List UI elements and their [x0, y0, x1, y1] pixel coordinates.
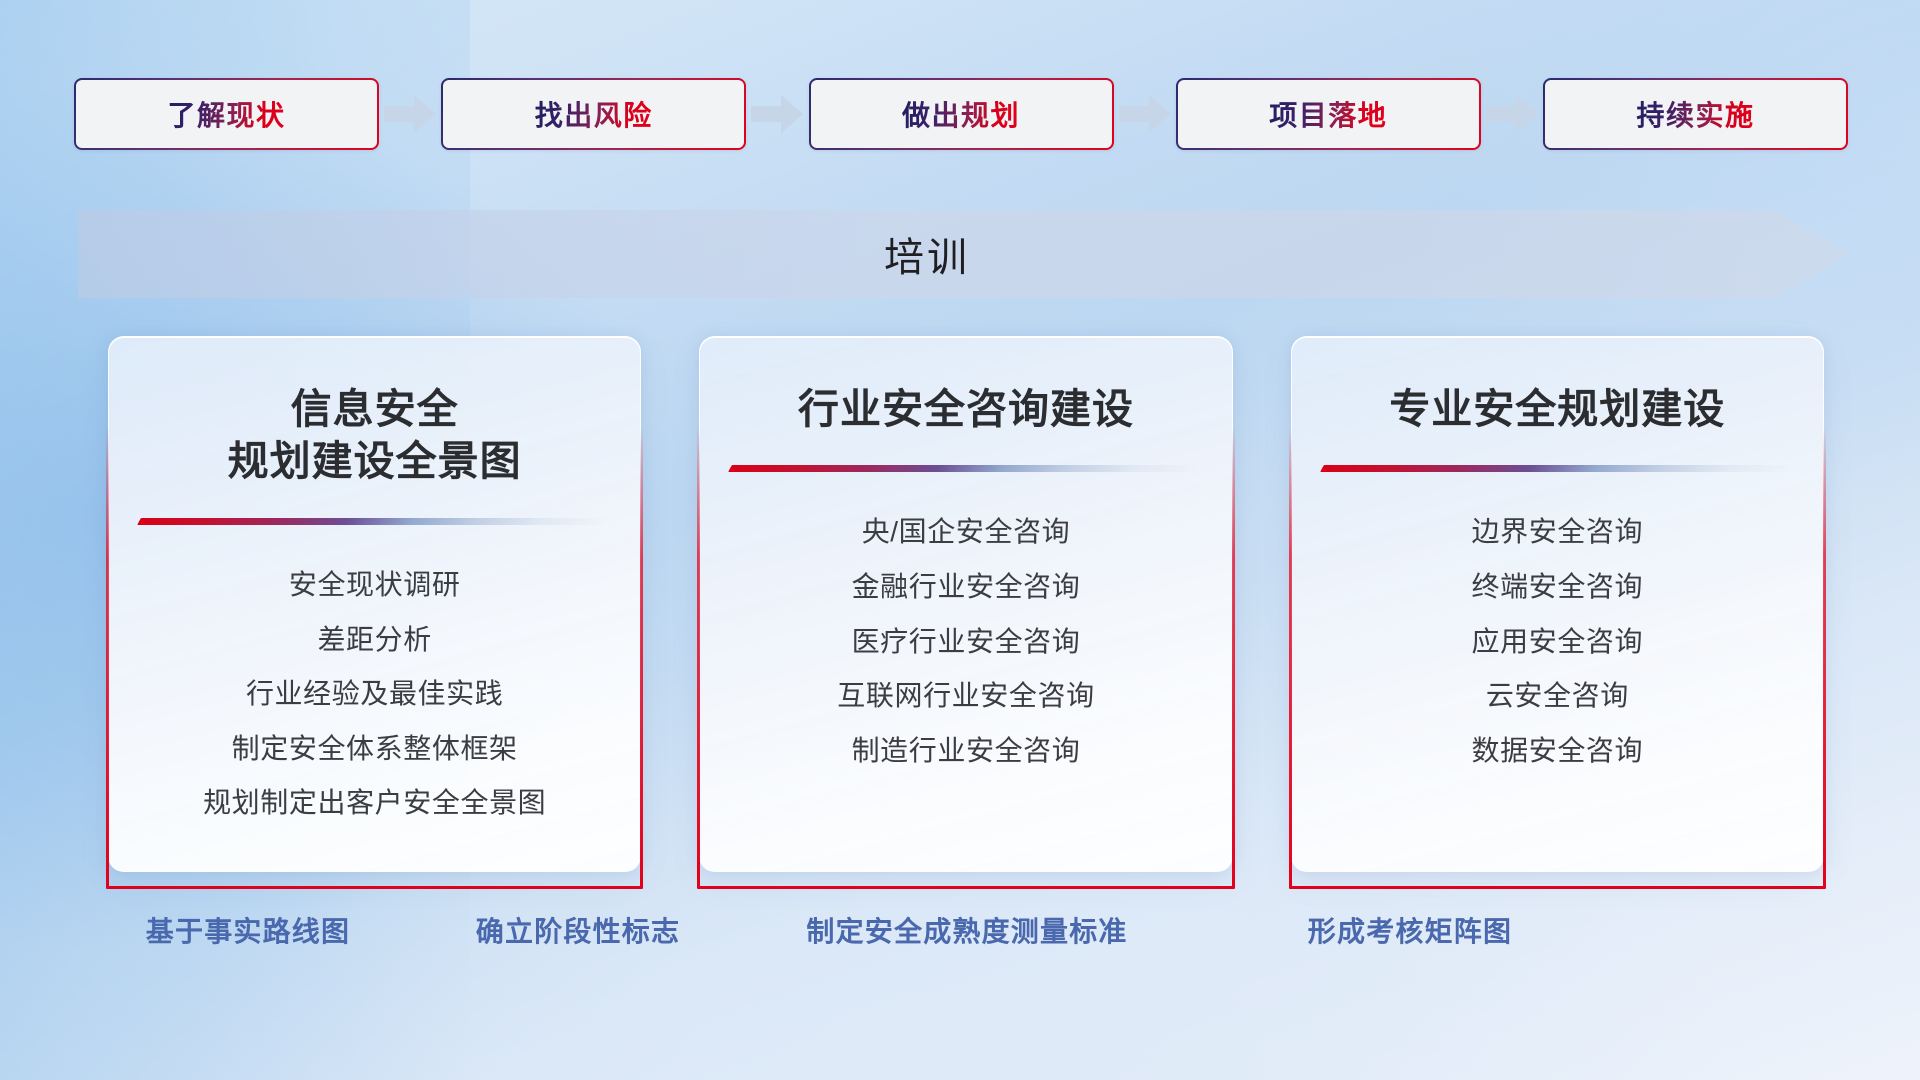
step-arrow-3: [1114, 95, 1176, 133]
list-item: 数据安全咨询: [1472, 731, 1644, 772]
caption-4: 形成考核矩阵图: [1308, 910, 1512, 950]
step-box-5[interactable]: 持续实施: [1543, 78, 1848, 150]
card-accent-underlay: [1289, 886, 1826, 889]
slide-canvas: 了解现状 找出风险 做出规划 项目落地: [0, 0, 1920, 1080]
card-accent-underlay: [106, 886, 643, 889]
step-box-1[interactable]: 了解现状: [74, 78, 379, 150]
list-item: 安全现状调研: [289, 565, 461, 606]
step-box-4[interactable]: 项目落地: [1176, 78, 1481, 150]
step-label-3: 做出规划: [902, 94, 1020, 134]
banner-label: 培训: [78, 210, 1848, 298]
card-title: 信息安全 规划建设全景图: [228, 383, 522, 488]
step-arrow-4: [1481, 95, 1543, 133]
list-item: 云安全咨询: [1486, 676, 1629, 717]
card-accent-underlay: [697, 886, 1234, 889]
right-arrow-icon: [384, 95, 436, 133]
step-arrow-2: [746, 95, 808, 133]
list-item: 终端安全咨询: [1472, 567, 1644, 608]
card-list: 央/国企安全咨询 金融行业安全咨询 医疗行业安全咨询 互联网行业安全咨询 制造行…: [837, 512, 1094, 771]
list-item: 医疗行业安全咨询: [852, 622, 1081, 663]
card-industry-security-consulting[interactable]: 行业安全咨询建设 央/国企安全咨询 金融行业安全咨询 医疗行业安全咨询 互联网行…: [699, 336, 1232, 872]
list-item: 行业经验及最佳实践: [246, 674, 503, 715]
card-divider: [137, 518, 612, 525]
step-label-1: 了解现状: [167, 94, 285, 134]
card-title: 行业安全咨询建设: [798, 383, 1134, 435]
card-title: 专业安全规划建设: [1389, 383, 1725, 435]
card-divider: [728, 465, 1203, 472]
list-item: 金融行业安全咨询: [852, 567, 1081, 608]
step-label-5: 持续实施: [1636, 94, 1754, 134]
card-information-security-blueprint[interactable]: 信息安全 规划建设全景图 安全现状调研 差距分析 行业经验及最佳实践 制定安全体…: [108, 336, 641, 872]
card-group: 信息安全 规划建设全景图 安全现状调研 差距分析 行业经验及最佳实践 制定安全体…: [108, 336, 1824, 872]
caption-3: 制定安全成熟度测量标准: [806, 910, 1127, 950]
list-item: 制定安全体系整体框架: [232, 729, 518, 770]
step-box-2[interactable]: 找出风险: [441, 78, 746, 150]
process-step-row: 了解现状 找出风险 做出规划 项目落地: [74, 78, 1848, 150]
step-label-2: 找出风险: [535, 94, 653, 134]
card-list: 边界安全咨询 终端安全咨询 应用安全咨询 云安全咨询 数据安全咨询: [1472, 512, 1644, 771]
list-item: 边界安全咨询: [1472, 512, 1644, 553]
right-arrow-icon: [1119, 95, 1171, 133]
step-box-3[interactable]: 做出规划: [809, 78, 1114, 150]
list-item: 规划制定出客户安全全景图: [203, 783, 546, 824]
list-item: 差距分析: [317, 620, 431, 661]
card-divider: [1320, 465, 1795, 472]
step-label-4: 项目落地: [1269, 94, 1387, 134]
card-professional-security-planning[interactable]: 专业安全规划建设 边界安全咨询 终端安全咨询 应用安全咨询 云安全咨询 数据安全…: [1291, 336, 1824, 872]
right-arrow-icon: [1486, 95, 1538, 133]
caption-row: 基于事实路线图 确立阶段性标志 制定安全成熟度测量标准 形成考核矩阵图: [0, 910, 1920, 960]
caption-1: 基于事实路线图: [146, 910, 350, 950]
caption-2: 确立阶段性标志: [476, 910, 680, 950]
list-item: 制造行业安全咨询: [852, 731, 1081, 772]
training-banner: 培训: [78, 210, 1848, 298]
right-arrow-icon: [751, 95, 803, 133]
step-arrow-1: [379, 95, 441, 133]
list-item: 央/国企安全咨询: [862, 512, 1071, 553]
card-list: 安全现状调研 差距分析 行业经验及最佳实践 制定安全体系整体框架 规划制定出客户…: [203, 565, 546, 824]
list-item: 应用安全咨询: [1472, 622, 1644, 663]
list-item: 互联网行业安全咨询: [837, 676, 1094, 717]
